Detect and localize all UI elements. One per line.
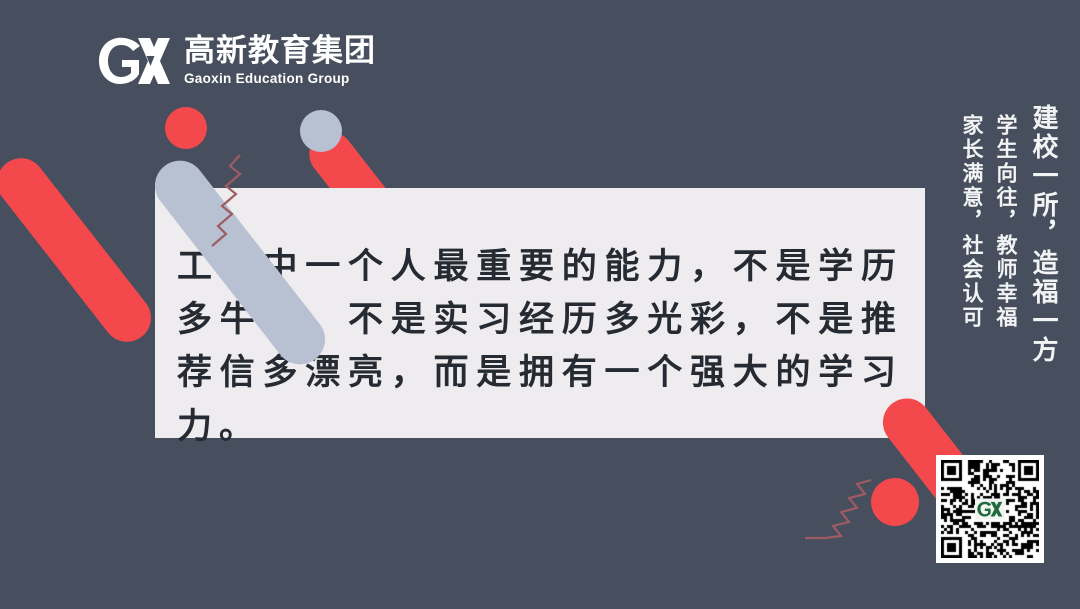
brand-name-en: Gaoxin Education Group <box>184 72 376 86</box>
squiggle-top-left-icon <box>196 152 252 252</box>
qr-code[interactable] <box>936 455 1044 563</box>
vertical-slogan: 家长满意，社会认可 学生向往，教师幸福 建校一所，造福一方 <box>957 104 1062 364</box>
bar-red-left <box>0 149 161 352</box>
gx-logo-small-icon <box>977 501 1003 518</box>
gx-logo-icon <box>98 36 172 86</box>
slogan-column-3: 家长满意，社会认可 <box>957 114 987 352</box>
circle-grey-top <box>300 110 342 152</box>
poster-canvas: 高新教育集团 Gaoxin Education Group 工作中一个人最重要的… <box>0 0 1080 609</box>
qr-center-gx-icon <box>975 499 1005 520</box>
slogan-column-2: 学生向往，教师幸福 <box>991 114 1021 352</box>
brand-name-cn: 高新教育集团 <box>184 36 376 67</box>
squiggle-bottom-right-icon <box>795 476 879 542</box>
slogan-column-1: 建校一所，造福一方 <box>1025 104 1062 364</box>
brand-logo-text: 高新教育集团 Gaoxin Education Group <box>184 36 376 86</box>
brand-logo: 高新教育集团 Gaoxin Education Group <box>98 36 376 86</box>
circle-red-top <box>165 107 207 149</box>
